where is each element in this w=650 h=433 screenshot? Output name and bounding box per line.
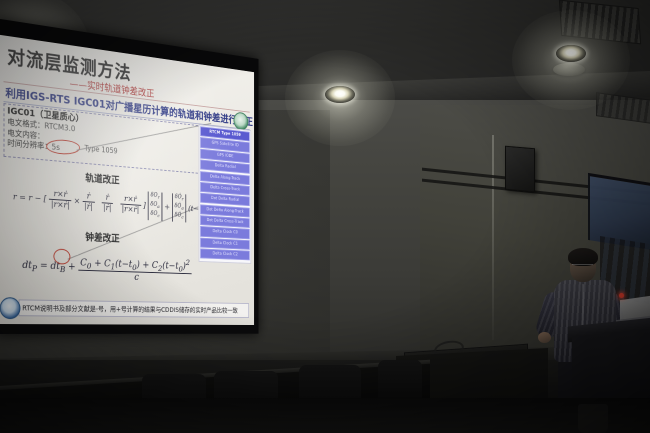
rtcm-message-field-table: RTCM Type 1059 GPS Satellite ID GPS IODE… xyxy=(199,124,252,263)
clock-correction-formula: dtP = dtB + C0 + C1(t−t0) + C2(t−t0)2c xyxy=(22,251,191,284)
institution-emblem-icon xyxy=(0,297,20,319)
downlight-right-icon xyxy=(556,45,586,62)
foreground-shadow xyxy=(0,398,650,433)
slide-footer-note: RTCM说明书及部分文献是-号，用+号计算的结果与CDDIS储存的实时产品比较一… xyxy=(22,303,237,315)
microphone-indicator-light xyxy=(619,293,624,298)
clock-correction-heading: 钟差改正 xyxy=(85,229,119,245)
downlight-center-icon xyxy=(325,86,355,103)
orbit-correction-heading: 轨道改正 xyxy=(85,170,119,187)
red-circled-plus-sign xyxy=(53,249,70,265)
presentation-slide: 对流层监测方法 ——实时轨道钟差改正 利用IGS-RTS IGC01对广播星历计… xyxy=(0,35,254,325)
presenter-glasses-icon xyxy=(572,264,593,270)
slide-footer-box: RTCM说明书及部分文献是-号，用+号计算的结果与CDDIS储存的实时产品比较一… xyxy=(19,299,249,318)
wall-speaker-icon xyxy=(505,146,535,193)
projection-screen: 对流层监测方法 ——实时轨道钟差改正 利用IGS-RTS IGC01对广播星历计… xyxy=(0,18,258,334)
smoke-detector-icon xyxy=(553,63,585,76)
presenter-left-hand xyxy=(538,332,551,343)
lecture-room-photo: 对流层监测方法 ——实时轨道钟差改正 利用IGS-RTS IGC01对广播星历计… xyxy=(0,0,650,433)
table-row: Delta Clock C2 xyxy=(200,249,250,261)
orbit-correction-formula: r = r − [ r×ṙ|r×ṙ| × ṙ|ṙ| ṙ|ṙ| r×r… xyxy=(13,181,208,223)
wall-corner-line xyxy=(492,135,494,340)
